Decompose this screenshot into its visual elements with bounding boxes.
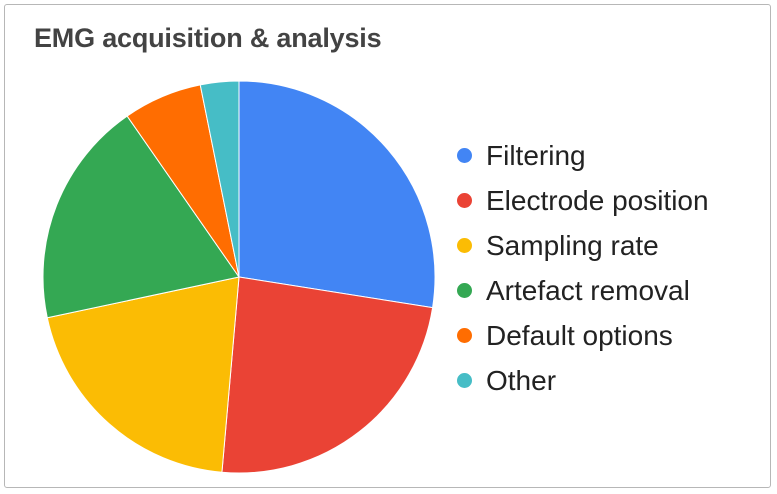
legend-item-label: Artefact removal (486, 277, 690, 305)
legend-item-artefact-removal[interactable]: Artefact removal (457, 268, 757, 313)
legend-item-other[interactable]: Other (457, 358, 757, 403)
legend-item-sampling-rate[interactable]: Sampling rate (457, 223, 757, 268)
legend-swatch-icon (457, 148, 472, 163)
pie-slice-filtering[interactable] (239, 81, 435, 308)
legend-item-default-options[interactable]: Default options (457, 313, 757, 358)
pie-chart (39, 77, 439, 477)
legend-swatch-icon (457, 193, 472, 208)
legend-swatch-icon (457, 328, 472, 343)
legend-item-label: Sampling rate (486, 232, 659, 260)
legend-swatch-icon (457, 373, 472, 388)
chart-legend: FilteringElectrode positionSampling rate… (457, 133, 757, 403)
legend-item-label: Electrode position (486, 187, 709, 215)
legend-item-label: Default options (486, 322, 673, 350)
chart-card: EMG acquisition & analysis FilteringElec… (4, 4, 771, 488)
legend-item-electrode-position[interactable]: Electrode position (457, 178, 757, 223)
page-title: EMG acquisition & analysis (34, 23, 381, 54)
legend-item-label: Filtering (486, 142, 586, 170)
legend-item-label: Other (486, 367, 556, 395)
legend-swatch-icon (457, 238, 472, 253)
legend-swatch-icon (457, 283, 472, 298)
pie-chart-svg (39, 77, 439, 477)
pie-slice-group (43, 81, 435, 473)
legend-item-filtering[interactable]: Filtering (457, 133, 757, 178)
pie-slice-electrode-position[interactable] (222, 277, 433, 473)
